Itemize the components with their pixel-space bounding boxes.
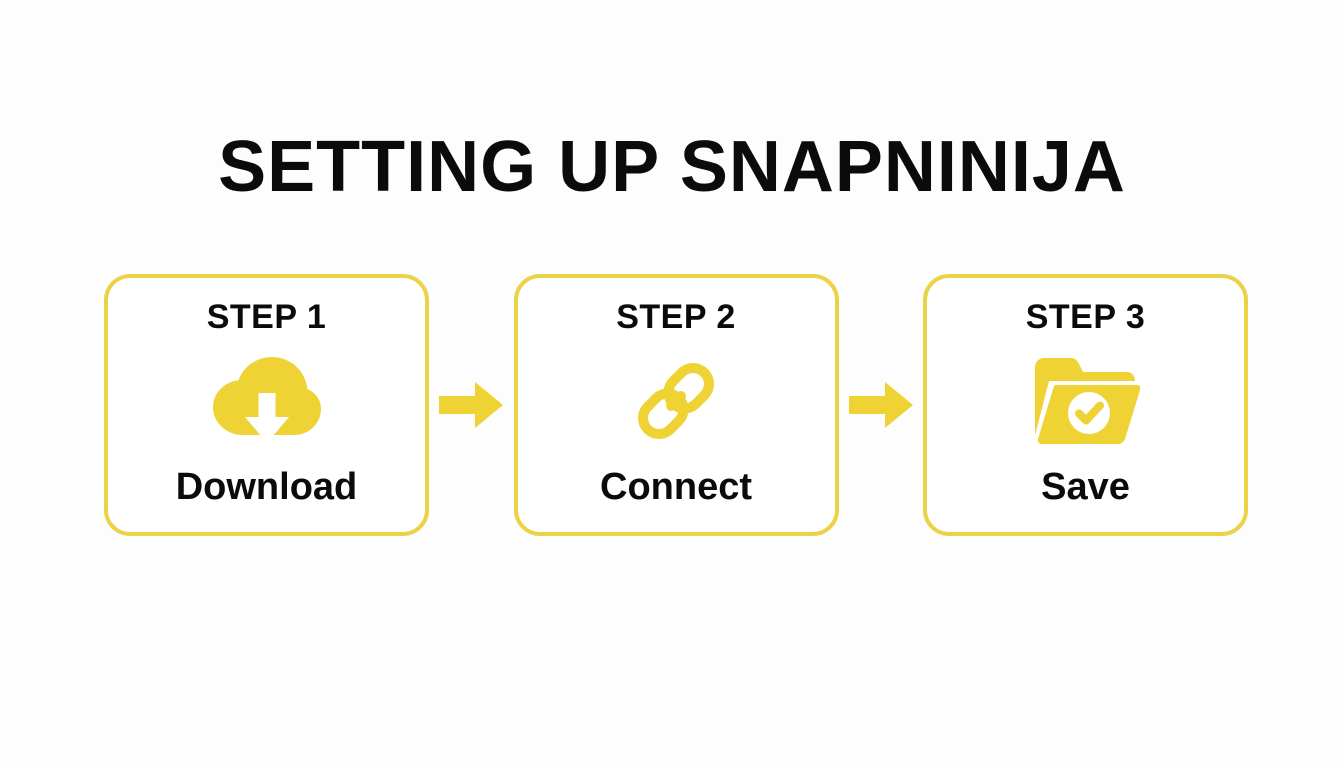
arrow-right-icon-1 bbox=[438, 378, 504, 432]
step-3-label: STEP 3 bbox=[1026, 298, 1146, 336]
cloud-download-icon bbox=[211, 353, 323, 449]
step-2-name: Connect bbox=[600, 466, 752, 508]
step-2-label: STEP 2 bbox=[616, 298, 736, 336]
slide-canvas: SETTING UP SNAPNINIJA STEP 1 Download bbox=[0, 0, 1344, 768]
page-title: SETTING UP SNAPNINIJA bbox=[0, 125, 1344, 209]
chain-link-icon bbox=[620, 353, 732, 449]
step-card-2[interactable]: STEP 2 Connect bbox=[514, 274, 839, 536]
step-1-name: Download bbox=[176, 466, 358, 508]
step-card-3[interactable]: STEP 3 Save bbox=[923, 274, 1248, 536]
step-1-label: STEP 1 bbox=[207, 298, 327, 336]
step-card-1[interactable]: STEP 1 Download bbox=[104, 274, 429, 536]
folder-check-icon bbox=[1030, 353, 1142, 449]
arrow-right-icon-2 bbox=[848, 378, 914, 432]
steps-row: STEP 1 Download STEP 2 bbox=[104, 274, 1248, 536]
step-3-name: Save bbox=[1041, 466, 1130, 508]
